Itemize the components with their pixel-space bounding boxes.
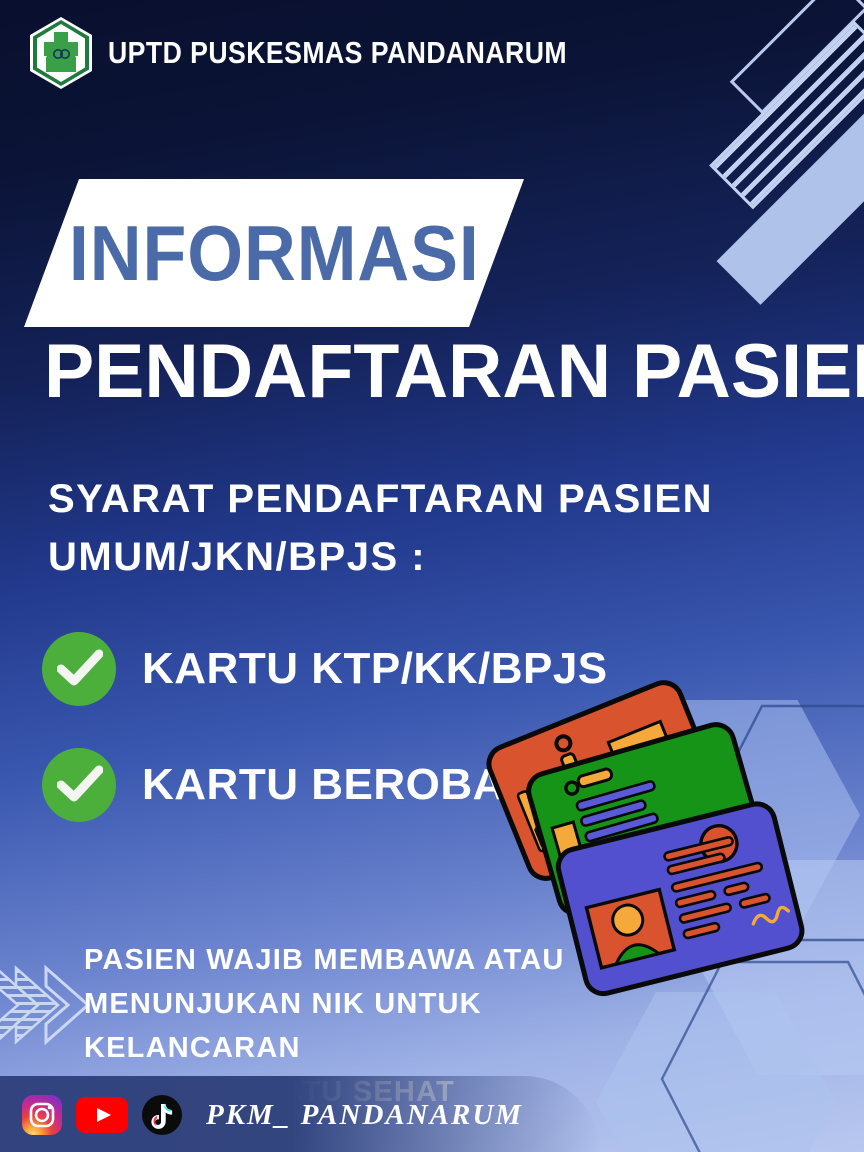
note-line-1: PASIEN WAJIB MEMBAWA ATAU: [84, 938, 694, 982]
poster-canvas: UPTD PUSKESMAS PANDANARUM INFORMASI PEND…: [0, 0, 864, 1152]
social-handle: PKM_ PANDANARUM: [206, 1099, 523, 1132]
note-line-2: MENUNJUKAN NIK UNTUK KELANCARAN: [84, 982, 694, 1070]
instagram-icon[interactable]: [22, 1095, 62, 1135]
diagonal-bar-striped-icon: [709, 21, 864, 210]
banner-title: INFORMASI: [69, 208, 480, 299]
check-circle-icon: [42, 748, 116, 822]
check-circle-icon: [42, 632, 116, 706]
health-cross-hexagon-logo-icon: [28, 16, 94, 90]
diagonal-bar-solid-icon: [717, 109, 864, 305]
tiktok-icon[interactable]: [142, 1095, 182, 1135]
informasi-banner: INFORMASI: [24, 179, 524, 327]
header: UPTD PUSKESMAS PANDANARUM: [28, 16, 642, 90]
org-title: UPTD PUSKESMAS PANDANARUM: [108, 35, 567, 71]
diagonal-bar-outline-icon: [730, 0, 864, 114]
footer: PKM_ PANDANARUM: [22, 1086, 523, 1144]
youtube-icon[interactable]: [76, 1097, 128, 1133]
subtitle-line-2: UMUM/JKN/BPJS :: [48, 528, 748, 586]
subtitle: SYARAT PENDAFTARAN PASIEN UMUM/JKN/BPJS …: [48, 470, 748, 586]
page-title: PENDAFTARAN PASIEN: [44, 334, 826, 410]
subtitle-line-1: SYARAT PENDAFTARAN PASIEN: [48, 470, 748, 528]
